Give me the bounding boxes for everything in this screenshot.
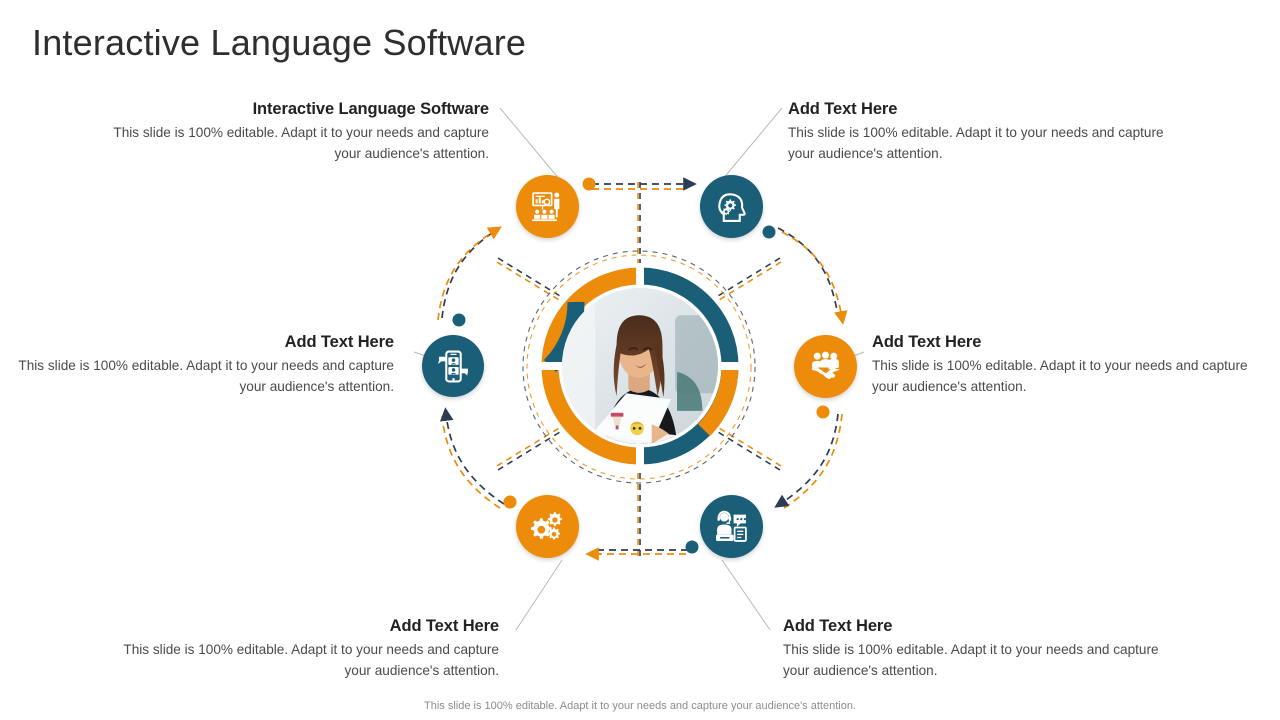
text-block-1: Interactive Language Software This slide… (97, 100, 489, 164)
text-block-5-body: This slide is 100% editable. Adapt it to… (107, 640, 499, 681)
photo-illustration (562, 288, 718, 444)
leader-line-1 (500, 108, 560, 180)
ring-gap-bottom (636, 441, 644, 469)
arrow-right-upper-orange (782, 232, 842, 318)
path-dot-bottom (686, 541, 699, 554)
text-block-3: Add Text Here This slide is 100% editabl… (2, 333, 394, 397)
text-block-2-body: This slide is 100% editable. Adapt it to… (788, 123, 1180, 164)
leader-line-2 (722, 108, 782, 180)
node-headset-support[interactable] (700, 495, 763, 558)
text-block-4-heading: Add Text Here (872, 333, 1264, 352)
node-head-gears[interactable] (700, 175, 763, 238)
text-block-5: Add Text Here This slide is 100% editabl… (107, 617, 499, 681)
gears-settings-icon (531, 510, 564, 543)
center-graphic (537, 263, 743, 469)
laptop-sticker-2 (630, 422, 644, 436)
path-dot-upper-left (453, 314, 466, 327)
text-block-2-heading: Add Text Here (788, 100, 1180, 119)
arrow-right-lower-blue (780, 414, 838, 504)
text-block-4: Add Text Here This slide is 100% editabl… (872, 333, 1264, 397)
center-photo (562, 288, 718, 444)
arrow-right-lower-orange (784, 414, 842, 508)
text-block-4-body: This slide is 100% editable. Adapt it to… (872, 356, 1264, 397)
text-block-6-body: This slide is 100% editable. Adapt it to… (783, 640, 1175, 681)
arrow-right-upper-blue (778, 228, 838, 316)
path-dot-upper-right (763, 226, 776, 239)
slide-canvas: Interactive Language Software (0, 0, 1280, 720)
leader-line-6 (722, 560, 770, 630)
footer-note: This slide is 100% editable. Adapt it to… (0, 700, 1280, 712)
leader-line-5 (516, 560, 562, 630)
arrow-left-upper-orange (438, 230, 496, 320)
headset-support-icon (715, 510, 748, 543)
node-presentation-training[interactable] (516, 175, 579, 238)
node-handshake-team[interactable] (794, 335, 857, 398)
handshake-team-icon (809, 350, 842, 383)
text-block-3-body: This slide is 100% editable. Adapt it to… (2, 356, 394, 397)
presentation-training-icon (531, 190, 564, 223)
text-block-6-heading: Add Text Here (783, 617, 1175, 636)
head-gears-icon (715, 190, 748, 223)
text-block-1-heading: Interactive Language Software (97, 100, 489, 119)
node-mobile-chat[interactable] (422, 335, 484, 397)
text-block-3-heading: Add Text Here (2, 333, 394, 352)
text-block-2: Add Text Here This slide is 100% editabl… (788, 100, 1180, 164)
path-dot-top (583, 178, 596, 191)
text-block-6: Add Text Here This slide is 100% editabl… (783, 617, 1175, 681)
ring-gap-left (537, 362, 565, 370)
ring-gap-right (715, 362, 743, 370)
text-block-5-heading: Add Text Here (107, 617, 499, 636)
mobile-chat-icon (437, 350, 470, 383)
ring-gap-top (636, 263, 644, 291)
arrow-left-upper-blue (442, 228, 500, 318)
text-block-1-body: This slide is 100% editable. Adapt it to… (97, 123, 489, 164)
node-gears-settings[interactable] (516, 495, 579, 558)
arrow-left-lower-blue (446, 414, 504, 504)
path-dot-lower-right (817, 406, 830, 419)
path-dot-lower-left (504, 496, 517, 509)
